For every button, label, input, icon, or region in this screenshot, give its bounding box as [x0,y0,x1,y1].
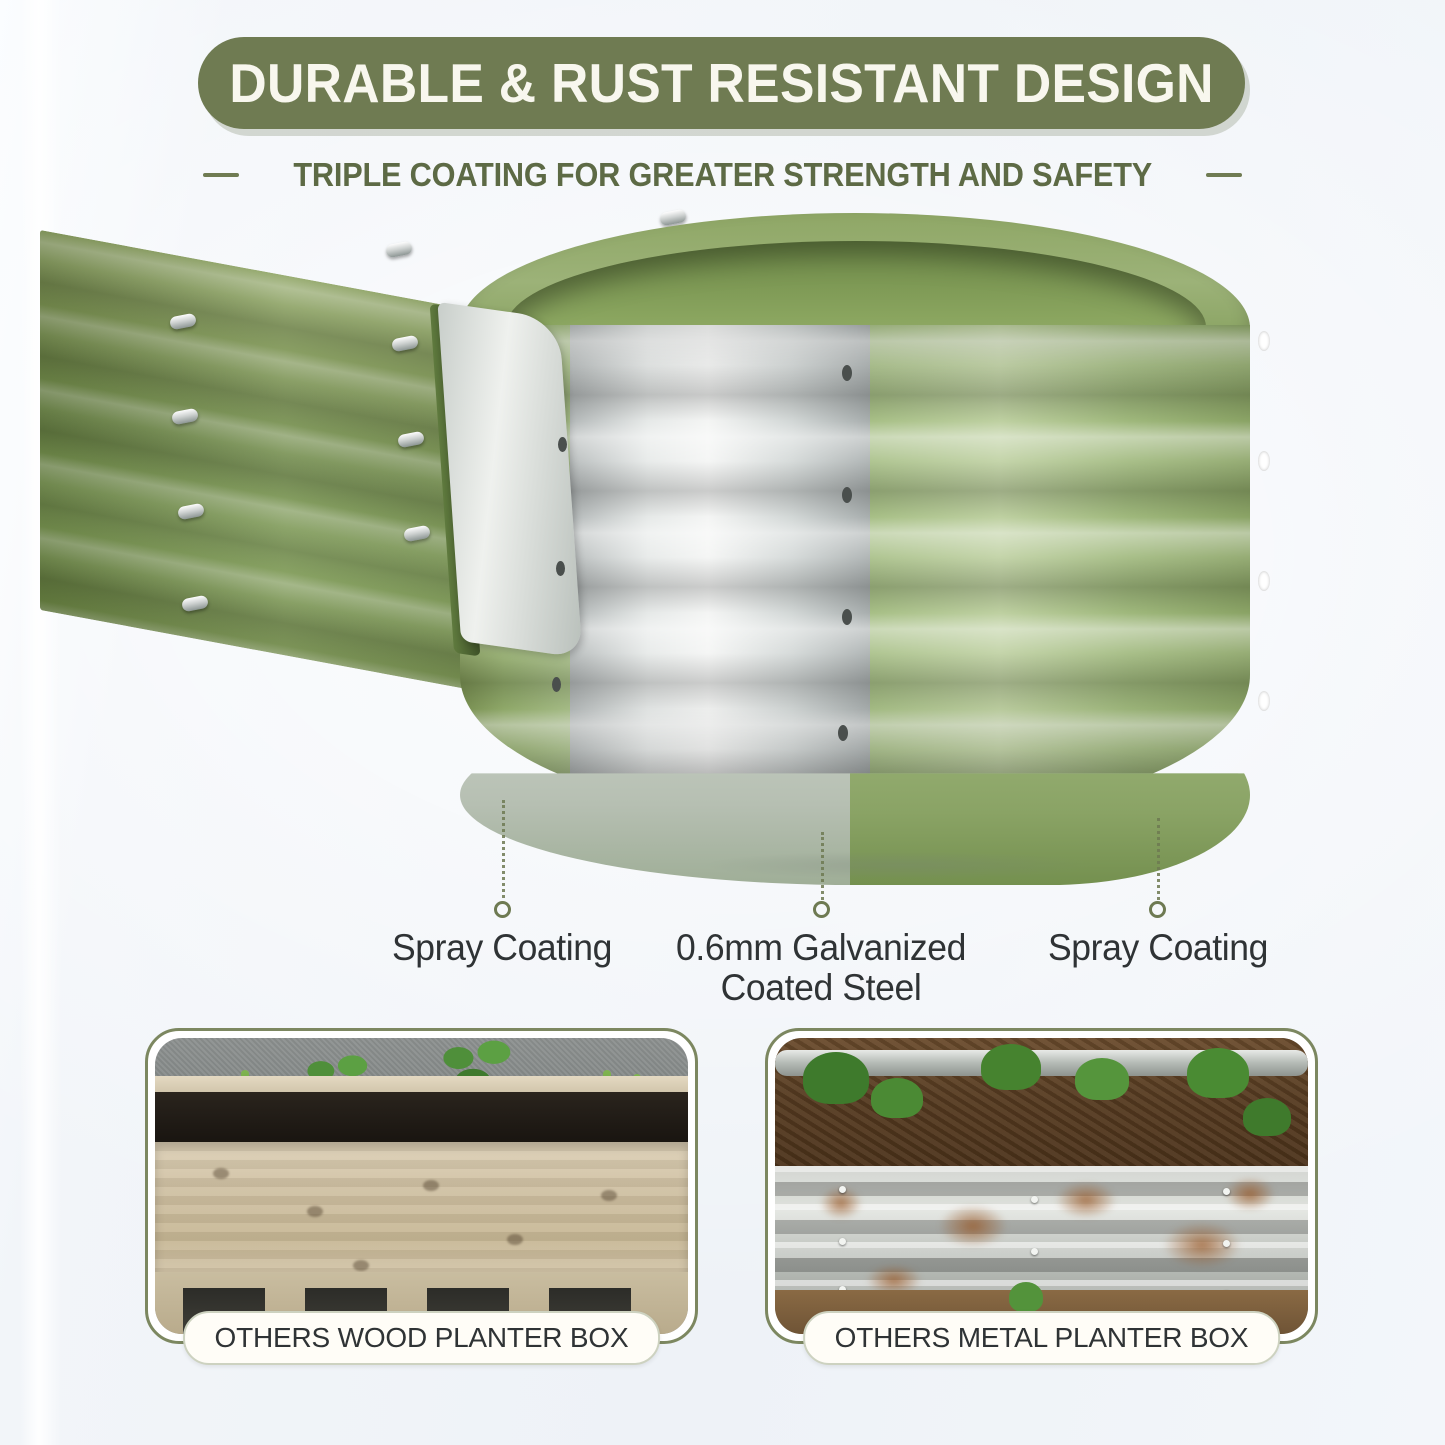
comparison-card-wood: OTHERS WOOD PLANTER BOX [145,1028,698,1344]
plant-leaf [1243,1098,1291,1136]
plant-leaf [803,1052,869,1104]
subtitle-row: TRIPLE COATING FOR GREATER STRENGTH AND … [0,150,1445,200]
raised-bed-body [440,205,1280,885]
weed-sprout [1009,1282,1043,1312]
callout-label-left: Spray Coating [358,928,646,968]
comparison-section: OTHERS WOOD PLANTER BOX [0,1028,1445,1408]
scalloped-edge [1238,323,1284,803]
metal-planter-photo [775,1038,1308,1334]
callout-label-center: 0.6mm Galvanized Coated Steel [648,928,994,1008]
hero-product-image [0,205,1445,895]
peeled-galvanized-flap [437,302,582,658]
planter-soil [155,1092,688,1148]
leader-dot-icon [494,901,511,918]
plant-leaf [871,1078,923,1118]
wood-planter-photo [155,1038,688,1334]
wall-shading [460,325,1250,825]
bed-wall [460,325,1250,825]
banner-title: DURABLE & RUST RESISTANT DESIGN [229,51,1213,115]
subtitle-text: TRIPLE COATING FOR GREATER STRENGTH AND … [293,156,1152,194]
caption-metal-planter: OTHERS METAL PLANTER BOX [803,1311,1281,1365]
dash-right-icon [1206,173,1242,177]
leader-dot-icon [1149,901,1166,918]
caption-wood-planter: OTHERS WOOD PLANTER BOX [183,1311,661,1365]
plant-leaf [1187,1048,1249,1098]
leader-line-icon [1157,818,1160,900]
plant-leaf [1075,1058,1129,1100]
product-infographic: DURABLE & RUST RESISTANT DESIGN TRIPLE C… [0,0,1445,1445]
leader-line-icon [821,832,824,900]
ground-shadow [620,845,1180,885]
comparison-card-metal: OTHERS METAL PLANTER BOX [765,1028,1318,1344]
leader-line-icon [502,800,505,898]
planter-front-board [155,1142,688,1292]
header-banner: DURABLE & RUST RESISTANT DESIGN [198,37,1245,129]
callout-label-right: Spray Coating [1014,928,1302,968]
plant-leaf [981,1044,1041,1090]
leader-dot-icon [813,901,830,918]
dash-left-icon [203,173,239,177]
